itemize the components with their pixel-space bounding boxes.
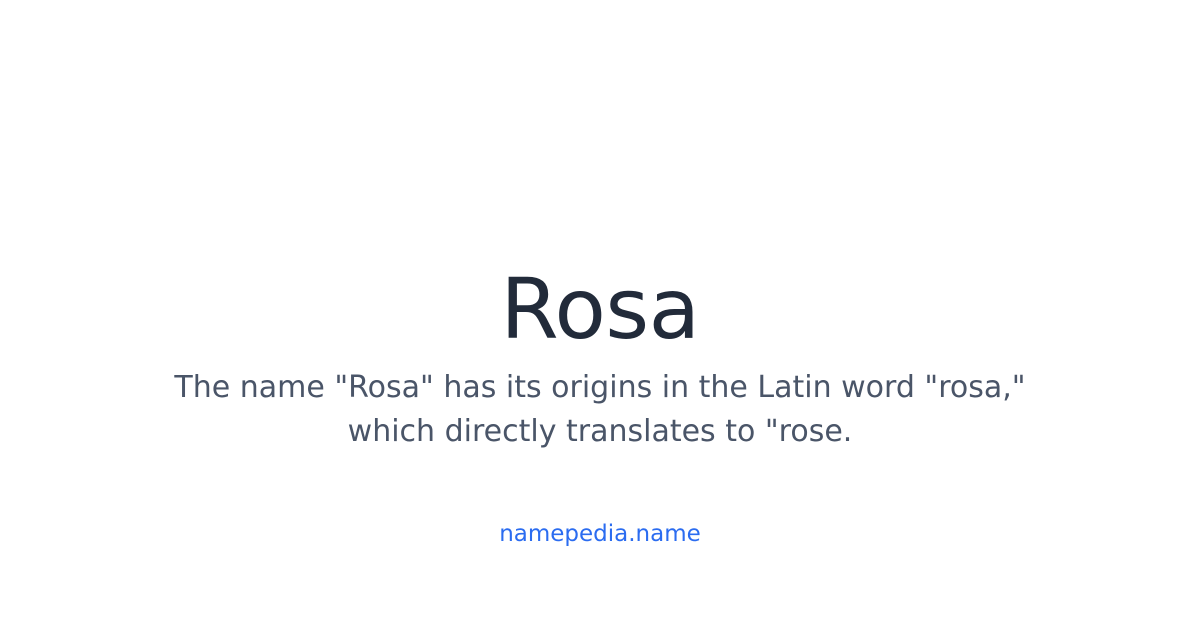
site-link[interactable]: namepedia.name [0,520,1200,550]
name-preview-card: Rosa The name "Rosa" has its origins in … [0,0,1200,630]
page-title: Rosa [0,266,1200,353]
name-description: The name "Rosa" has its origins in the L… [150,366,1050,454]
